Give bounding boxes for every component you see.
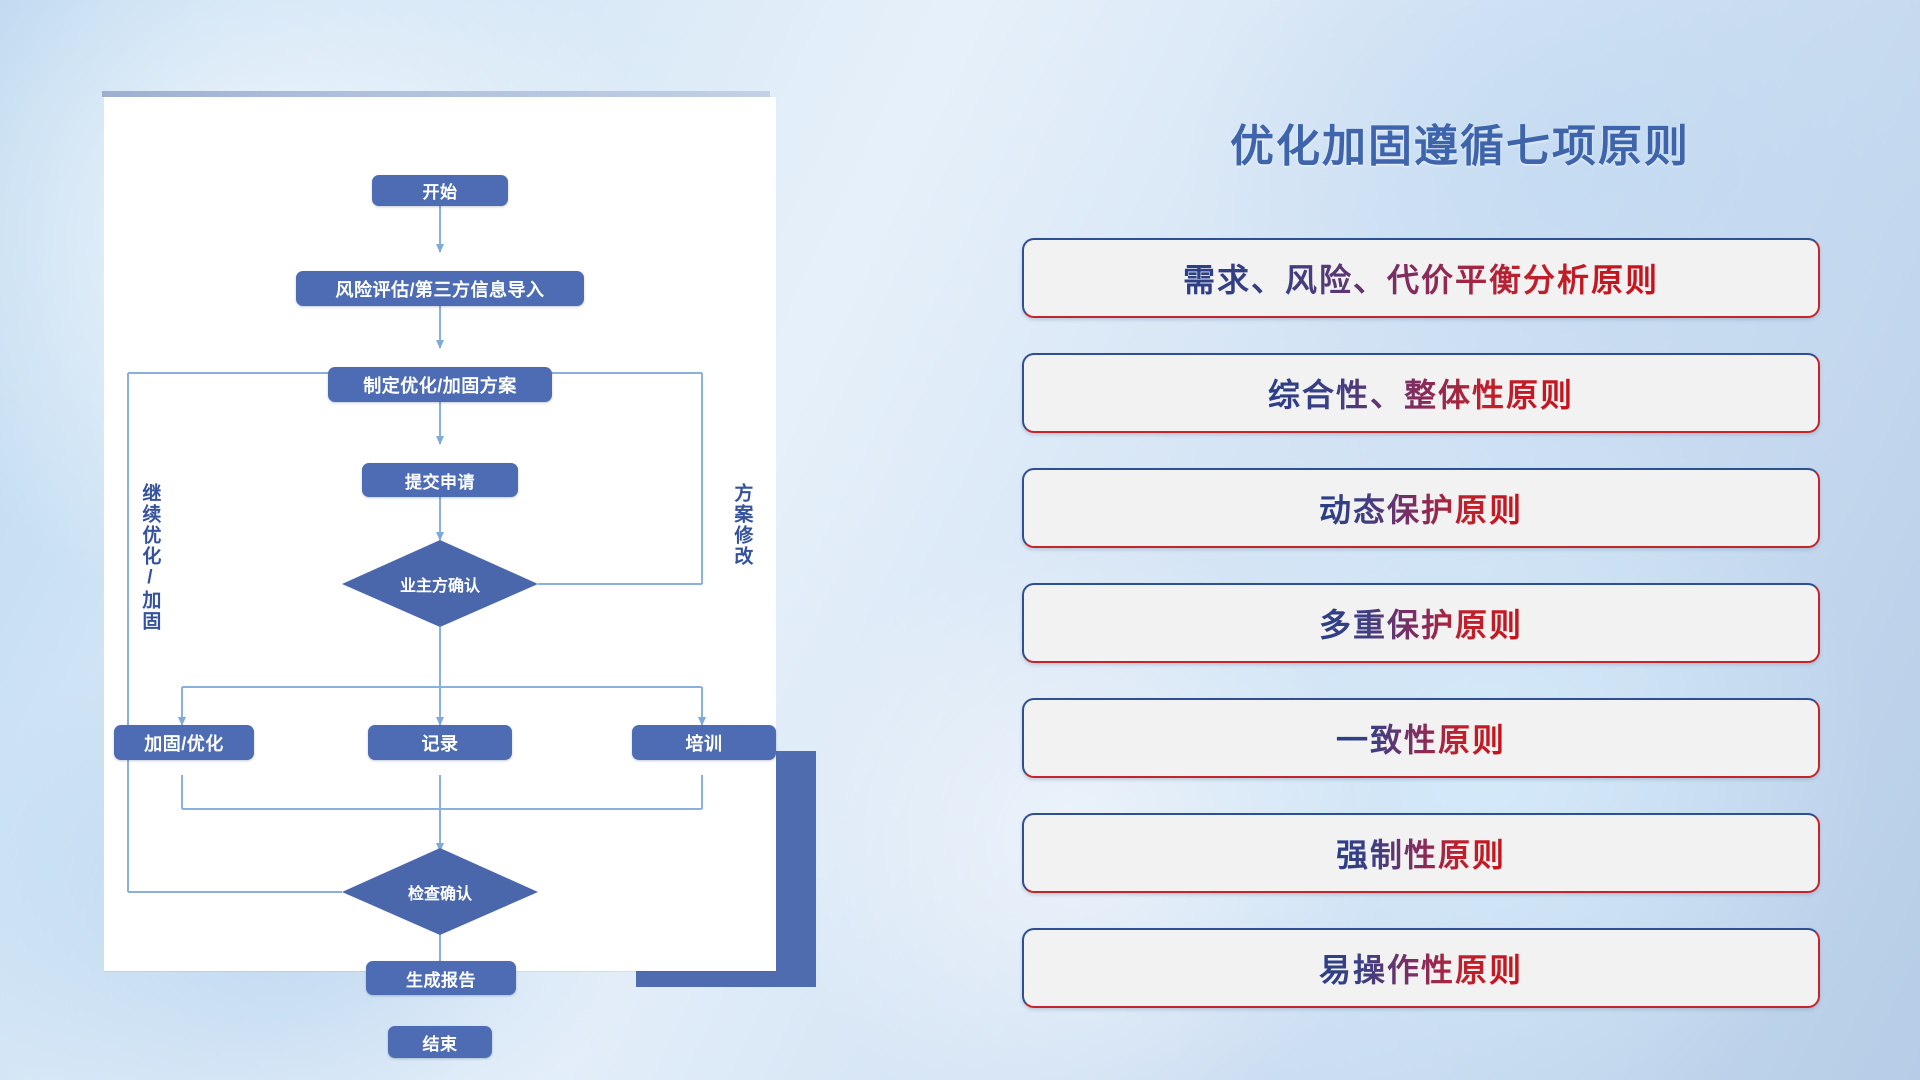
principles-list: 需求、风险、代价平衡分析原则 综合性、整体性原则 动态保护原则 多重保护原则 一… xyxy=(1022,238,1820,1008)
principle-label-6: 强制性原则 xyxy=(1336,830,1506,876)
node-start[interactable]: 开始 xyxy=(372,175,508,206)
node-submit-application[interactable]: 提交申请 xyxy=(362,463,518,497)
node-check-confirm[interactable]: 检查确认 xyxy=(342,848,538,936)
edge-label-plan-revision: 方案修改 xyxy=(732,483,751,567)
page-title: 优化加固遵循七项原则 xyxy=(1150,110,1770,174)
node-risk-assessment[interactable]: 风险评估/第三方信息导入 xyxy=(296,271,584,306)
principle-card-6[interactable]: 强制性原则 xyxy=(1022,813,1820,893)
principle-label-7: 易操作性原则 xyxy=(1319,945,1523,991)
flowchart-connectors xyxy=(104,97,776,971)
principle-card-4[interactable]: 多重保护原则 xyxy=(1022,583,1820,663)
principle-label-4: 多重保护原则 xyxy=(1319,600,1523,646)
node-submit-application-label: 提交申请 xyxy=(405,468,475,493)
principle-card-3[interactable]: 动态保护原则 xyxy=(1022,468,1820,548)
node-generate-report-label: 生成报告 xyxy=(406,966,476,991)
node-owner-confirm[interactable]: 业主方确认 xyxy=(342,540,538,628)
principle-card-5[interactable]: 一致性原则 xyxy=(1022,698,1820,778)
node-check-confirm-label: 检查确认 xyxy=(342,848,538,936)
node-start-label: 开始 xyxy=(423,178,458,203)
principle-card-2[interactable]: 综合性、整体性原则 xyxy=(1022,353,1820,433)
principle-label-5: 一致性原则 xyxy=(1336,715,1506,761)
node-reinforce-optimize[interactable]: 加固/优化 xyxy=(114,725,254,760)
node-end-label: 结束 xyxy=(423,1030,458,1055)
node-make-plan-label: 制定优化/加固方案 xyxy=(363,372,517,398)
node-training-label: 培训 xyxy=(686,730,723,756)
node-training[interactable]: 培训 xyxy=(632,725,776,760)
node-record-label: 记录 xyxy=(422,730,459,756)
principle-label-3: 动态保护原则 xyxy=(1319,485,1523,531)
principle-card-1[interactable]: 需求、风险、代价平衡分析原则 xyxy=(1022,238,1820,318)
node-record[interactable]: 记录 xyxy=(368,725,512,760)
node-risk-assessment-label: 风险评估/第三方信息导入 xyxy=(336,276,545,302)
edge-label-continue-optimize: 继续优化/加固 xyxy=(140,483,159,632)
slide-canvas: 开始 风险评估/第三方信息导入 制定优化/加固方案 提交申请 业主方确认 加固/… xyxy=(0,0,1920,1080)
principle-label-1: 需求、风险、代价平衡分析原则 xyxy=(1183,255,1659,301)
node-generate-report[interactable]: 生成报告 xyxy=(366,961,516,995)
principle-card-7[interactable]: 易操作性原则 xyxy=(1022,928,1820,1008)
node-owner-confirm-label: 业主方确认 xyxy=(342,540,538,628)
flowchart-diagram: 开始 风险评估/第三方信息导入 制定优化/加固方案 提交申请 业主方确认 加固/… xyxy=(104,97,776,971)
principle-label-2: 综合性、整体性原则 xyxy=(1268,370,1574,416)
node-end[interactable]: 结束 xyxy=(388,1026,492,1058)
flowchart-card: 开始 风险评估/第三方信息导入 制定优化/加固方案 提交申请 业主方确认 加固/… xyxy=(104,97,776,971)
node-reinforce-optimize-label: 加固/优化 xyxy=(144,730,224,756)
node-make-plan[interactable]: 制定优化/加固方案 xyxy=(328,367,552,402)
